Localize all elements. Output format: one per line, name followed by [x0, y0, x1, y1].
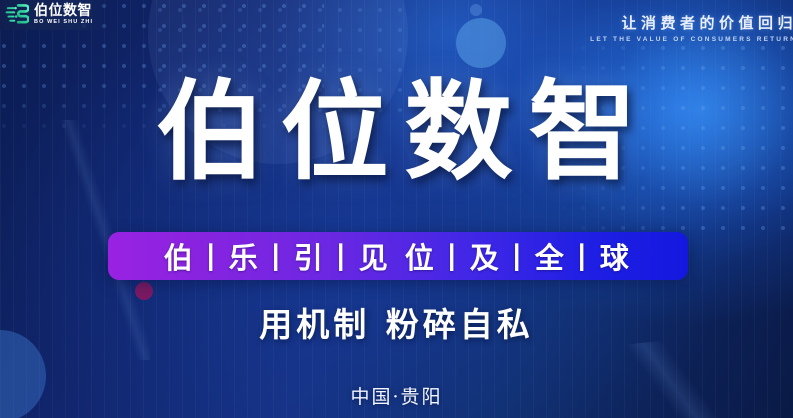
corporate-slogan: 让消费者的价值回归 LET THE VALUE OF CONSUMERS RET… [590, 12, 793, 43]
page-title: 伯位数智 [0, 76, 793, 189]
logo-company-en: BO WEI SHU ZHI [34, 20, 93, 26]
event-location: 中国·贵阳 [0, 382, 793, 409]
tagline-banner: 伯丨乐丨引丨见 位丨及丨全丨球 [108, 232, 688, 280]
logo-company-cn: 伯位数智 [34, 4, 93, 18]
background-circle-small [470, 4, 482, 16]
logo-bar: 伯位数智 BO WEI SHU ZHI [0, 0, 110, 30]
bowei-circuit-logo-icon [5, 3, 29, 27]
sub-slogan: 用机制 粉碎自私 [0, 298, 793, 346]
logo-text-block: 伯位数智 BO WEI SHU ZHI [34, 4, 93, 26]
background-circle-accent [456, 18, 506, 68]
slogan-chinese: 让消费者的价值回归 [590, 12, 793, 33]
vertical-line-texture [0, 0, 793, 418]
promo-poster: 伯位数智 BO WEI SHU ZHI 让消费者的价值回归 LET THE VA… [0, 0, 793, 418]
slogan-english: LET THE VALUE OF CONSUMERS RETURN [590, 36, 793, 43]
tagline-banner-text: 伯丨乐丨引丨见 位丨及丨全丨球 [164, 235, 633, 277]
